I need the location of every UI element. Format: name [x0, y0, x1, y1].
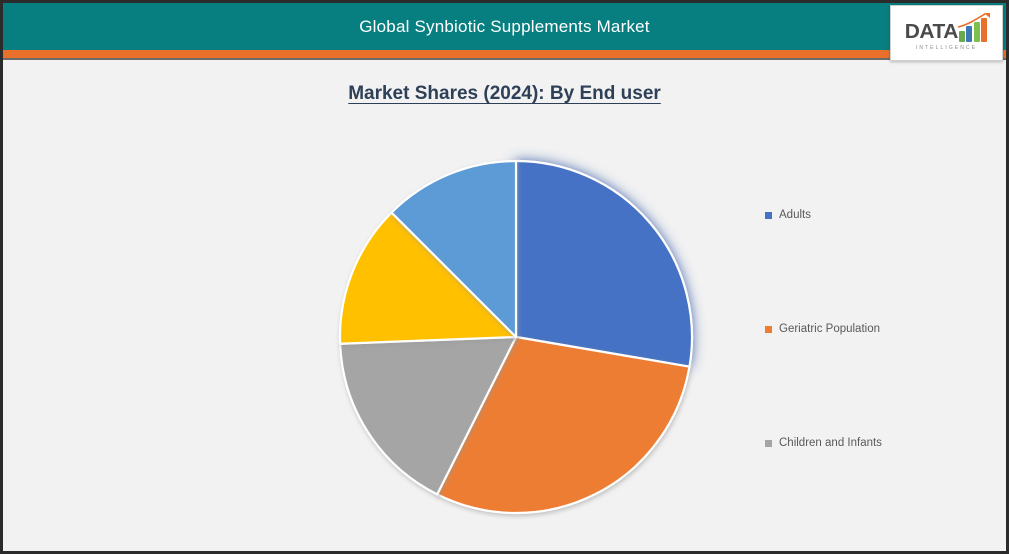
logo-bar-1	[959, 31, 965, 42]
legend-label-children-and-infants: Children and Infants	[779, 437, 882, 449]
legend-swatch-adults	[765, 212, 772, 219]
chart-legend: Adults Geriatric Population Children and…	[765, 163, 995, 523]
legend-swatch-children-and-infants	[765, 440, 772, 447]
pie-slice-group	[340, 161, 692, 513]
legend-item-adults[interactable]: Adults	[765, 209, 811, 221]
logo-subtitle: INTELLIGENCE	[916, 44, 977, 51]
header-accent-shadow	[3, 58, 1006, 60]
pie-slice-adults[interactable]	[516, 161, 692, 367]
logo-arrow-icon	[957, 13, 991, 29]
legend-swatch-geriatric-population	[765, 326, 772, 333]
pie-chart-svg	[333, 153, 703, 523]
legend-label-adults: Adults	[779, 209, 811, 221]
legend-label-geriatric-population: Geriatric Population	[779, 323, 880, 335]
header-accent-stripe	[3, 50, 1006, 58]
legend-item-geriatric-population[interactable]: Geriatric Population	[765, 323, 880, 335]
logo-bar-chart-icon	[959, 18, 988, 42]
logo-wordmark: DATA	[905, 22, 958, 42]
brand-logo: DATA INTELLIGENCE	[890, 5, 1003, 61]
logo-mark: DATA	[906, 16, 987, 42]
pie-chart	[333, 153, 703, 523]
header-title: Global Synbiotic Supplements Market	[3, 3, 1006, 50]
chart-page: Global Synbiotic Supplements Market DATA…	[0, 0, 1009, 554]
legend-item-children-and-infants[interactable]: Children and Infants	[765, 437, 882, 449]
chart-title: Market Shares (2024): By End user	[3, 83, 1006, 105]
